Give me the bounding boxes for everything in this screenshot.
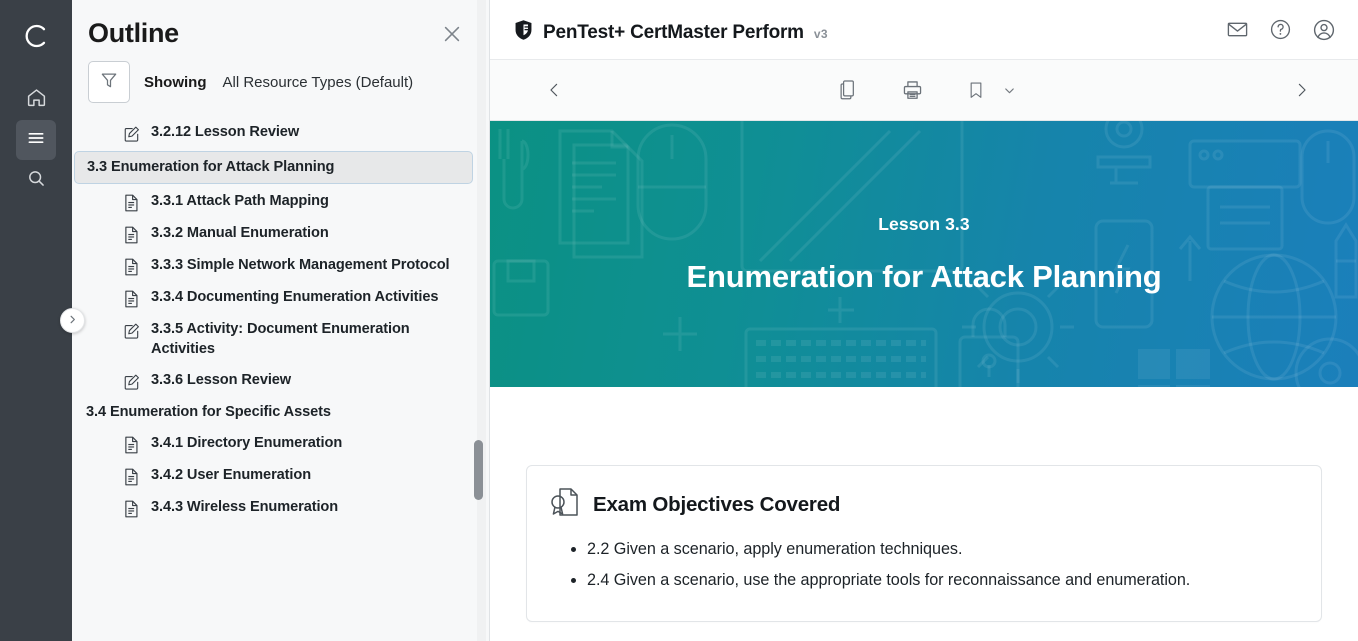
chevron-right-icon <box>67 312 78 330</box>
document-icon <box>124 194 142 212</box>
chevron-down-icon[interactable] <box>1002 83 1017 98</box>
filter-funnel-icon <box>99 70 119 95</box>
outline-item-label: 3.3.3 Simple Network Management Protocol <box>151 256 450 275</box>
main-content: PenTest+ CertMaster Perform v3 <box>490 0 1358 641</box>
print-icon[interactable] <box>901 78 924 102</box>
help-circle-icon[interactable] <box>1269 18 1292 41</box>
rail-home-button[interactable] <box>16 80 56 120</box>
hero-subtitle: Lesson 3.3 <box>878 214 969 235</box>
user-account-icon[interactable] <box>1312 18 1336 42</box>
outline-item[interactable]: 3.3.2 Manual Enumeration <box>72 218 473 250</box>
rail-outline-button[interactable] <box>16 120 56 160</box>
panel-collapse-handle[interactable] <box>60 308 85 333</box>
outline-item[interactable]: 3.4.3 Wireless Enumeration <box>72 492 473 524</box>
document-toolbar <box>490 60 1358 121</box>
rail-search-button[interactable] <box>16 160 56 200</box>
filter-button[interactable] <box>88 61 130 103</box>
outline-item-label: 3.4.3 Wireless Enumeration <box>151 498 338 517</box>
document-icon <box>124 226 142 244</box>
outline-item[interactable]: 3.3 Enumeration for Attack Planning <box>74 151 473 184</box>
mail-icon[interactable] <box>1226 18 1249 41</box>
outline-item[interactable]: 3.3.4 Documenting Enumeration Activities <box>72 282 473 314</box>
page-title: Outline <box>88 18 179 49</box>
document-icon <box>124 436 142 454</box>
brand-name: PenTest+ CertMaster Perform <box>543 22 804 44</box>
exam-objectives-list: 2.2 Given a scenario, apply enumeration … <box>587 537 1297 593</box>
certificate-document-icon <box>549 486 579 523</box>
outline-scrollbar-thumb[interactable] <box>474 440 483 500</box>
exam-objective-item: 2.2 Given a scenario, apply enumeration … <box>587 537 1297 562</box>
hero-tech-pattern <box>490 121 1358 387</box>
exam-objective-item: 2.4 Given a scenario, use the appropriat… <box>587 568 1297 593</box>
outline-item[interactable]: 3.4.1 Directory Enumeration <box>72 428 473 460</box>
outline-menu-icon <box>26 128 46 153</box>
outline-item[interactable]: 3.4.2 User Enumeration <box>72 460 473 492</box>
document-icon <box>124 468 142 486</box>
hero-title: Enumeration for Attack Planning <box>687 259 1162 295</box>
bookmark-icon[interactable] <box>966 78 986 102</box>
outline-item-label: 3.3.6 Lesson Review <box>151 371 291 390</box>
outline-item-label: 3.3.2 Manual Enumeration <box>151 224 329 243</box>
search-icon <box>26 168 46 193</box>
outline-item-label: 3.3.4 Documenting Enumeration Activities <box>151 288 438 307</box>
document-icon <box>124 500 142 518</box>
showing-value[interactable]: All Resource Types (Default) <box>223 74 414 91</box>
outline-item-label: 3.3.5 Activity: Document Enumeration Act… <box>151 320 463 359</box>
filter-row: Showing All Resource Types (Default) <box>72 55 489 117</box>
outline-item-label: 3.4 Enumeration for Specific Assets <box>86 403 331 422</box>
outline-item[interactable]: 3.4 Enumeration for Specific Assets <box>72 397 473 428</box>
outline-scrollbar-track[interactable] <box>477 0 486 641</box>
pencil-square-icon <box>124 373 142 391</box>
c-logo-icon[interactable] <box>13 13 59 59</box>
outline-item-label: 3.3 Enumeration for Attack Planning <box>87 158 334 177</box>
copy-icon[interactable] <box>837 78 859 102</box>
outline-item[interactable]: 3.3.5 Activity: Document Enumeration Act… <box>72 314 473 365</box>
application-window: Outline Showing All Resource Types (Defa… <box>0 0 1358 641</box>
close-icon[interactable] <box>437 19 467 49</box>
outline-panel: Outline Showing All Resource Types (Defa… <box>72 0 490 641</box>
outline-item-label: 3.2.12 Lesson Review <box>151 123 299 142</box>
lesson-hero-banner: Lesson 3.3 Enumeration for Attack Planni… <box>490 121 1358 387</box>
exam-objectives-box: Exam Objectives Covered 2.2 Given a scen… <box>526 465 1322 622</box>
pencil-square-icon <box>124 125 142 143</box>
top-bar: PenTest+ CertMaster Perform v3 <box>490 0 1358 60</box>
exam-objectives-header: Exam Objectives Covered <box>549 486 1297 523</box>
showing-label: Showing <box>144 74 207 91</box>
home-icon <box>26 87 47 113</box>
top-bar-actions <box>1226 18 1336 42</box>
outline-item[interactable]: 3.2.12 Lesson Review <box>72 117 473 149</box>
next-page-button[interactable] <box>1285 70 1318 110</box>
outline-item[interactable]: 3.3.6 Lesson Review <box>72 365 473 397</box>
document-icon <box>124 258 142 276</box>
outline-item-label: 3.3.1 Attack Path Mapping <box>151 192 329 211</box>
shield-icon <box>514 19 533 41</box>
outline-item-label: 3.4.2 User Enumeration <box>151 466 311 485</box>
outline-item[interactable]: 3.3.3 Simple Network Management Protocol <box>72 250 473 282</box>
outline-list[interactable]: 3.2.12 Lesson Review3.3 Enumeration for … <box>72 117 489 641</box>
document-viewport: Lesson 3.3 Enumeration for Attack Planni… <box>490 121 1358 641</box>
exam-objectives-title: Exam Objectives Covered <box>593 493 840 517</box>
toolbar-buttons <box>831 78 1017 102</box>
outline-header: Outline <box>72 0 489 55</box>
version-badge: v3 <box>814 27 828 41</box>
pencil-square-icon <box>124 322 142 340</box>
outline-item-label: 3.4.1 Directory Enumeration <box>151 434 342 453</box>
previous-page-button[interactable] <box>538 70 571 110</box>
brand: PenTest+ CertMaster Perform v3 <box>514 16 828 44</box>
outline-item[interactable]: 3.3.1 Attack Path Mapping <box>72 186 473 218</box>
document-body: Exam Objectives Covered 2.2 Given a scen… <box>490 465 1358 641</box>
document-icon <box>124 290 142 308</box>
